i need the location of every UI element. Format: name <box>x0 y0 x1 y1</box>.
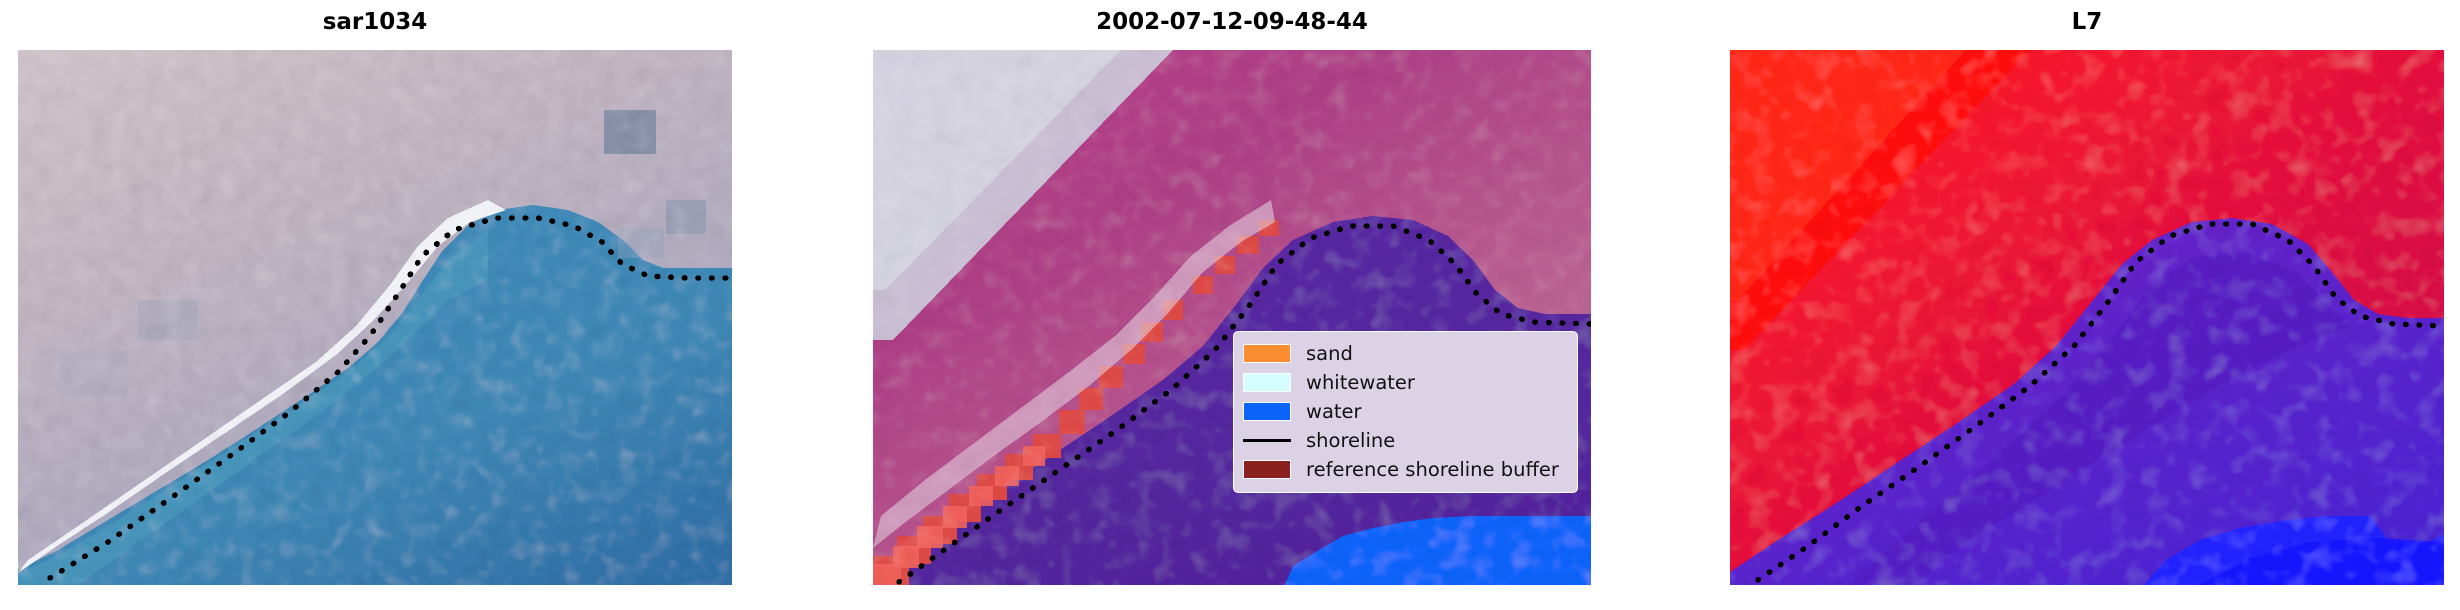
panel-title-datetime: 2002-07-12-09-48-44 <box>873 9 1591 35</box>
legend-label-whitewater: whitewater <box>1306 373 1415 393</box>
sar-rgb-panel[interactable] <box>18 50 732 585</box>
legend-item-whitewater: whitewater <box>1243 368 1568 397</box>
classified-panel[interactable] <box>873 50 1591 585</box>
figure-canvas: sar1034 2002-07-12-09-48-44 L7 <box>0 0 2460 610</box>
legend-item-reference-buffer: reference shoreline buffer <box>1243 455 1568 484</box>
legend-label-water: water <box>1306 402 1362 422</box>
legend-label-reference-buffer: reference shoreline buffer <box>1306 460 1559 480</box>
index-panel[interactable] <box>1730 50 2444 585</box>
panel-title-l7: L7 <box>1730 9 2444 35</box>
legend-swatch-sand <box>1243 344 1291 363</box>
classification-legend[interactable]: sand whitewater water shoreline referenc… <box>1233 331 1578 493</box>
legend-swatch-water <box>1243 402 1291 421</box>
sar-rgb-raster <box>18 50 732 585</box>
legend-item-water: water <box>1243 397 1568 426</box>
legend-swatch-shoreline <box>1243 439 1291 442</box>
legend-item-shoreline: shoreline <box>1243 426 1568 455</box>
legend-swatch-reference-buffer <box>1243 460 1291 479</box>
legend-item-sand: sand <box>1243 339 1568 368</box>
legend-label-shoreline: shoreline <box>1306 431 1395 451</box>
legend-label-sand: sand <box>1306 344 1353 364</box>
index-raster <box>1730 50 2444 585</box>
classified-raster <box>873 50 1591 585</box>
panel-title-sar: sar1034 <box>18 9 732 35</box>
legend-swatch-whitewater <box>1243 373 1291 392</box>
